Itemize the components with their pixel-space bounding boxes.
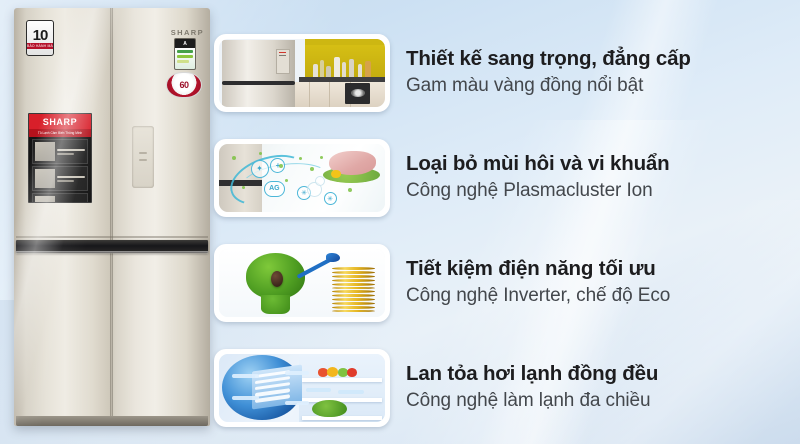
feature-title: Tiết kiệm điện năng tối ưu [406, 257, 800, 282]
fridge-kickplate [16, 416, 208, 426]
feature-title: Loại bỏ mùi hôi và vi khuẩn [406, 152, 800, 177]
ion-icon: ✦ [251, 160, 269, 178]
feature-text: Thiết kế sang trọng, đẳng cấp Gam màu và… [406, 47, 800, 97]
feature-row: Tiết kiệm điện năng tối ưu Công nghệ Inv… [214, 230, 800, 335]
fridge-door-seam-horizontal [16, 236, 208, 238]
ion-icon: ✳ [324, 192, 337, 205]
anniversary-years-label: 60 [179, 80, 188, 90]
feature-subtitle: Gam màu vàng đồng nổi bật [406, 74, 800, 98]
feature-row: Lan tỏa hơi lạnh đồng đều Công nghệ làm … [214, 335, 800, 440]
promo-sticker: SHARP Tủ Lạnh Cảm Biến Thông Minh SJ-FXI… [28, 113, 92, 203]
anniversary-badge: 60 [166, 72, 202, 98]
fridge-dispenser-panel [132, 126, 154, 188]
feature-row: ✦ + AG ✳ ✳ [214, 125, 800, 230]
promo-sticker-row [32, 166, 88, 191]
promo-sticker-title: SHARP [43, 117, 78, 127]
sharp-brand-logo: SHARP [171, 28, 204, 37]
feature-title: Thiết kế sang trọng, đẳng cấp [406, 47, 800, 72]
promo-sticker-row [32, 139, 88, 164]
ion-icon-ag: AG [264, 181, 285, 197]
multi-air-flow-illustration [214, 349, 390, 427]
coin-stack-icon [332, 268, 375, 313]
energy-bar-3 [177, 60, 189, 63]
feature-text: Loại bỏ mùi hôi và vi khuẩn Công nghệ Pl… [406, 152, 800, 202]
promo-banner: 10 BẢO HÀNH MÁY NÉN SHARP A 60 SHARP Tủ … [0, 0, 800, 444]
feature-subtitle: Công nghệ Plasmacluster Ion [406, 179, 800, 203]
fridge-interior-photo [299, 354, 385, 422]
kitchen-interior-photo [214, 34, 390, 112]
plasmacluster-ion-illustration: ✦ + AG ✳ ✳ [214, 139, 390, 217]
feature-subtitle: Công nghệ Inverter, chế độ Eco [406, 284, 800, 308]
refrigerator-product-image: 10 BẢO HÀNH MÁY NÉN SHARP A 60 SHARP Tủ … [14, 8, 210, 426]
energy-bar-1 [177, 50, 193, 53]
warranty-badge: 10 BẢO HÀNH MÁY NÉN [26, 20, 54, 56]
feature-row: Thiết kế sang trọng, đẳng cấp Gam màu và… [214, 20, 800, 125]
promo-sticker-subtitle: Tủ Lạnh Cảm Biến Thông Minh [29, 129, 91, 137]
warranty-years-label: 10 [33, 28, 48, 43]
energy-bar-2 [177, 55, 193, 58]
fridge-door-seam-vertical [110, 8, 113, 422]
promo-sticker-row [32, 193, 88, 203]
feature-list: Thiết kế sang trọng, đẳng cấp Gam màu và… [214, 20, 800, 440]
eco-bulb-coins-illustration [214, 244, 390, 322]
feature-text: Tiết kiệm điện năng tối ưu Công nghệ Inv… [406, 257, 800, 307]
raw-meat-photo [322, 148, 382, 186]
feature-title: Lan tỏa hơi lạnh đồng đều [406, 362, 800, 387]
fridge-handle-bar [16, 240, 208, 253]
energy-rating-label: A [174, 38, 196, 70]
warranty-note-label: BẢO HÀNH MÁY NÉN [27, 43, 53, 49]
energy-rating-value: A [183, 41, 187, 47]
feature-subtitle: Công nghệ làm lạnh đa chiều [406, 389, 800, 413]
feature-text: Lan tỏa hơi lạnh đồng đều Công nghệ làm … [406, 362, 800, 412]
